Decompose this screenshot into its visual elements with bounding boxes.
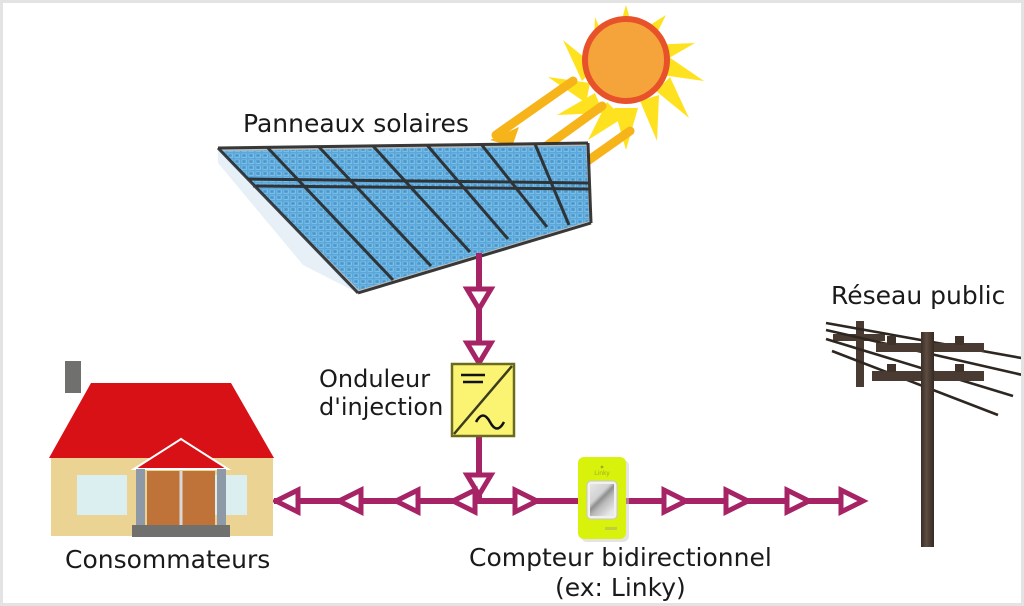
- solar-panel-array-icon: [218, 143, 591, 293]
- label-inverter-line2: d'injection: [319, 393, 443, 421]
- label-meter-line2: (ex: Linky): [469, 573, 772, 603]
- utility-pole-icon: [826, 321, 1024, 547]
- electric-meter-icon: Linky: [578, 457, 629, 542]
- label-meter: Compteur bidirectionnel (ex: Linky): [469, 543, 772, 602]
- meter-brand-text: Linky: [594, 470, 610, 477]
- inverter-symbol-icon: [452, 364, 514, 436]
- label-inverter: Onduleur d'injection: [319, 365, 443, 422]
- house-icon: [49, 361, 274, 537]
- label-meter-line1: Compteur bidirectionnel: [469, 543, 772, 572]
- label-grid: Réseau public: [831, 281, 1005, 311]
- label-solar-panels: Panneaux solaires: [243, 109, 469, 139]
- diagram-canvas: Linky Pa: [0, 0, 1024, 606]
- label-consumers: Consommateurs: [65, 545, 270, 575]
- label-inverter-line1: Onduleur: [319, 365, 430, 393]
